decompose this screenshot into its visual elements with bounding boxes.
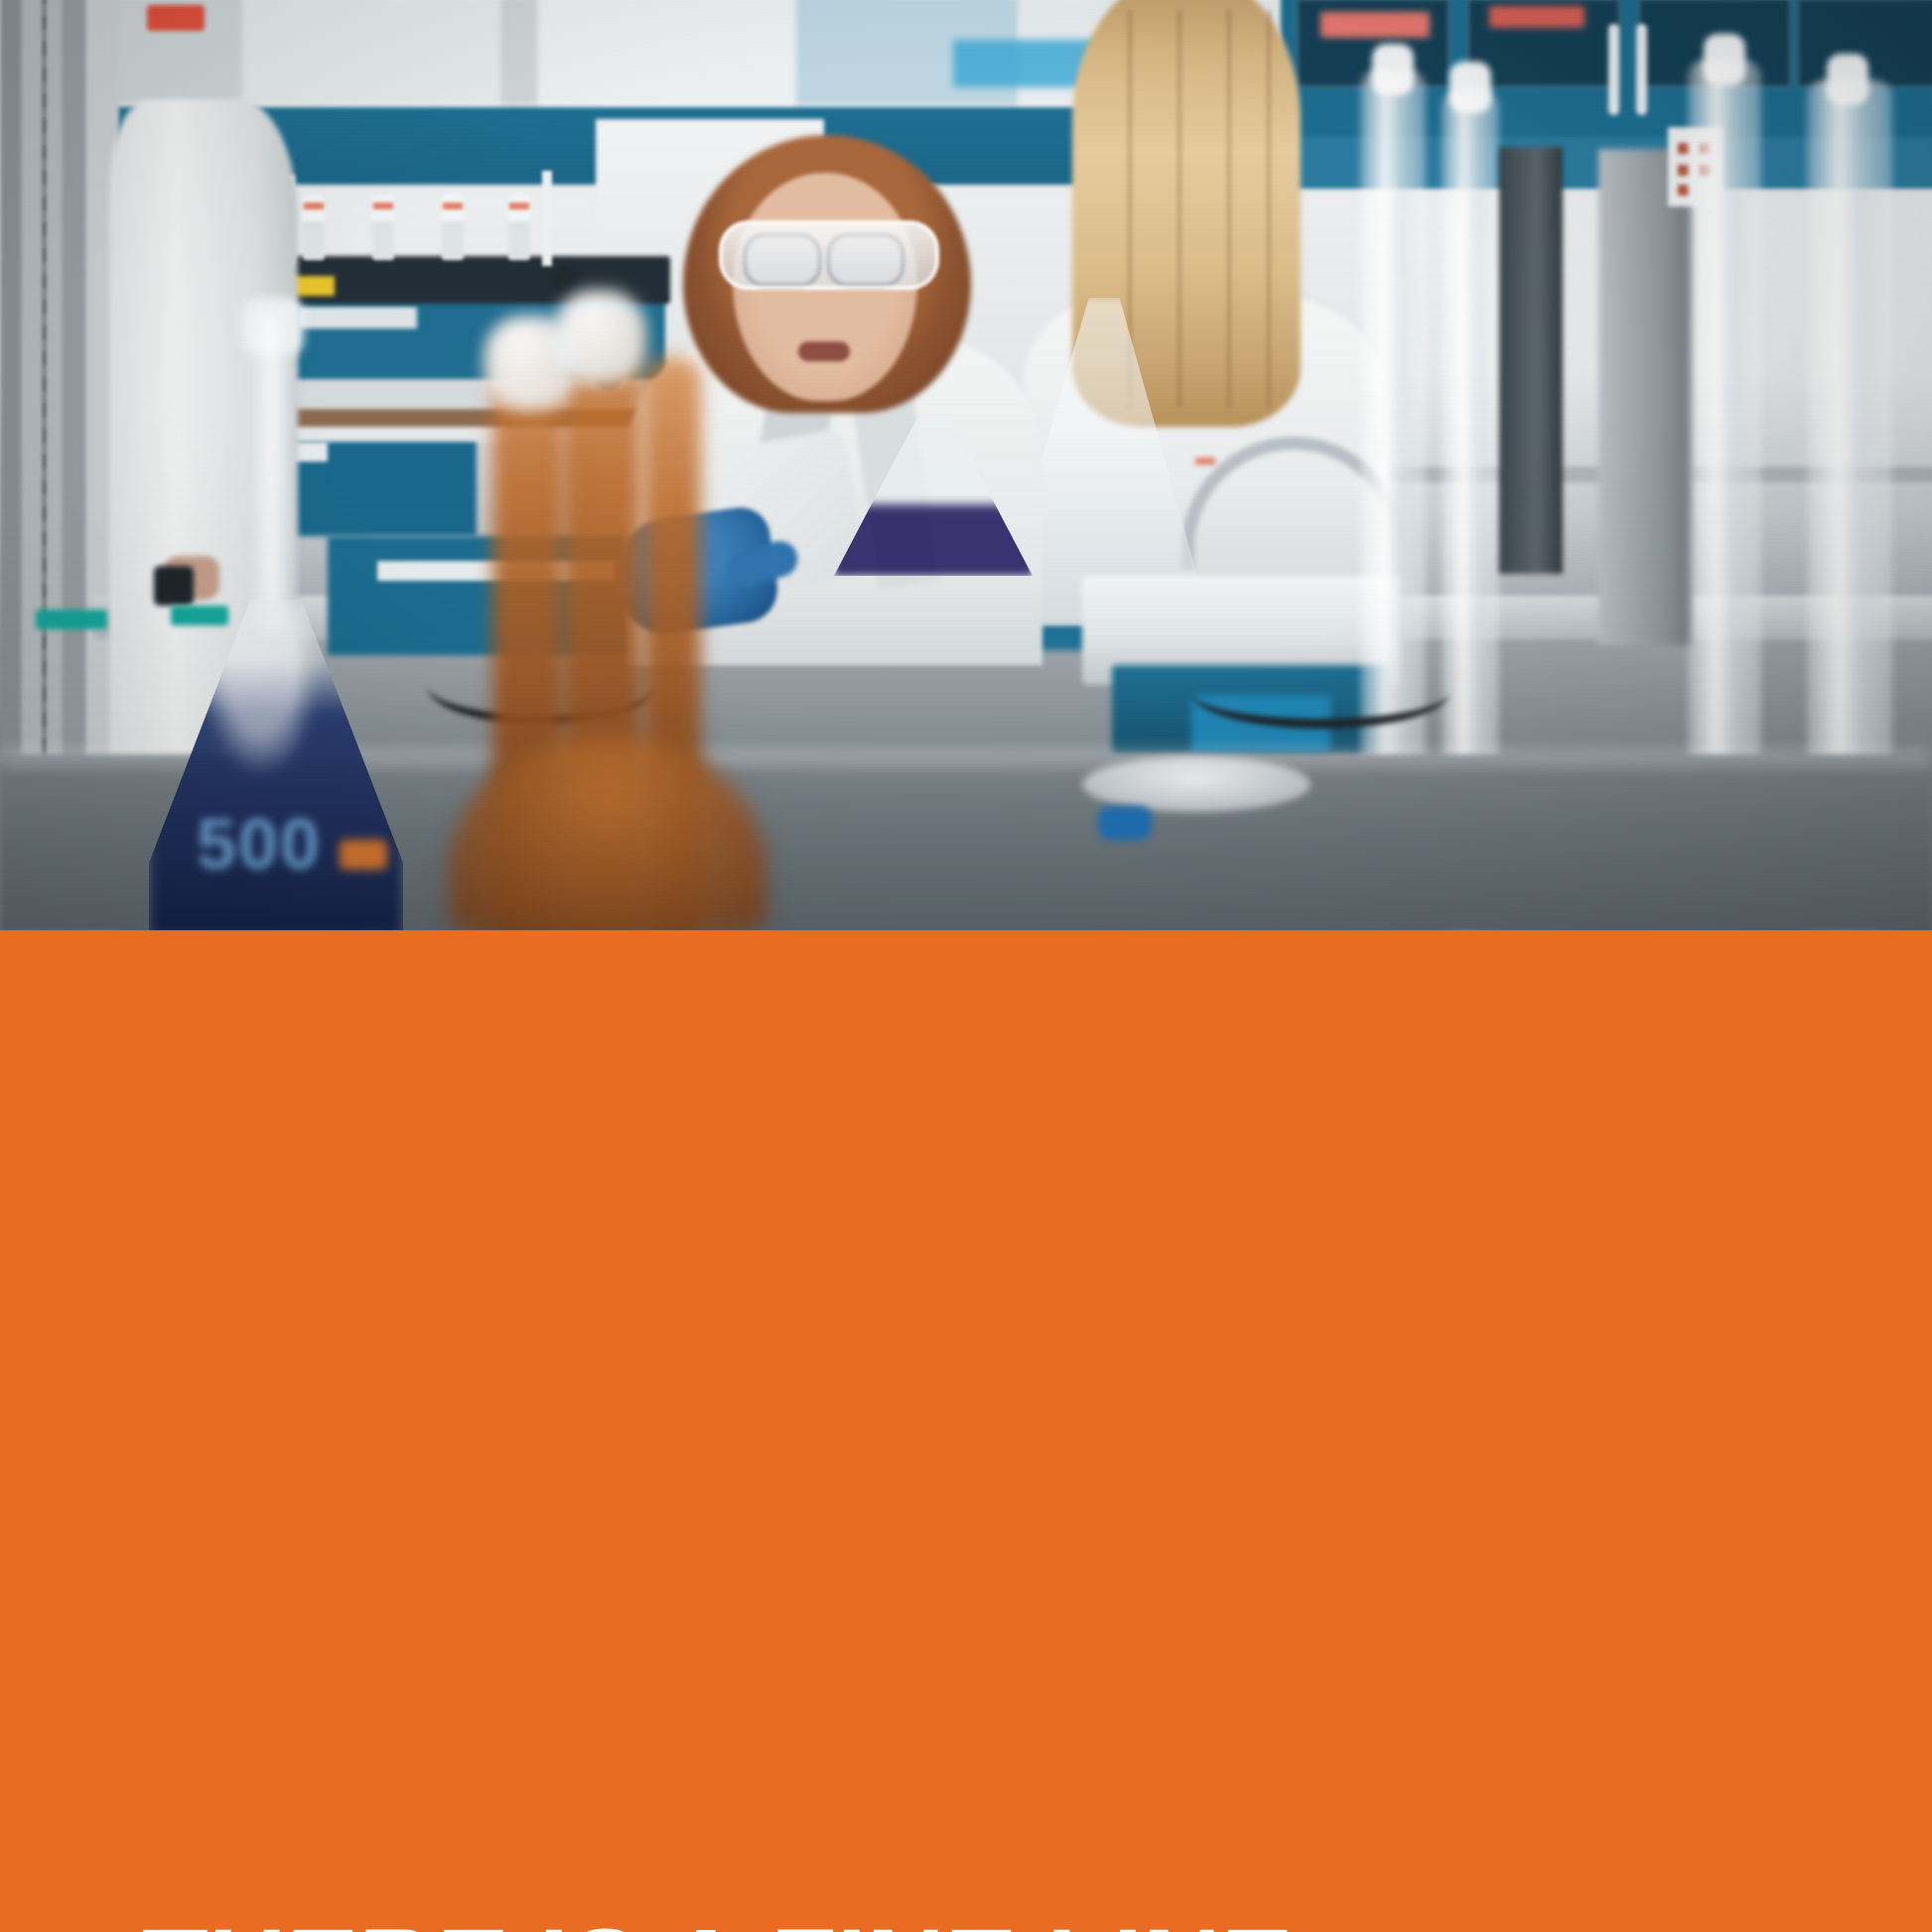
marketing-poster: 500 THERE IS A FINE LINE BETWEEN PASSION… [0,0,1932,1932]
laboratory-photo: 500 [0,0,1932,930]
headline: THERE IS A FINE LINE BETWEEN PASSION AND… [142,1907,1638,1932]
orange-text-panel: THERE IS A FINE LINE BETWEEN PASSION AND… [0,930,1932,1932]
photo-grain [0,0,1932,930]
